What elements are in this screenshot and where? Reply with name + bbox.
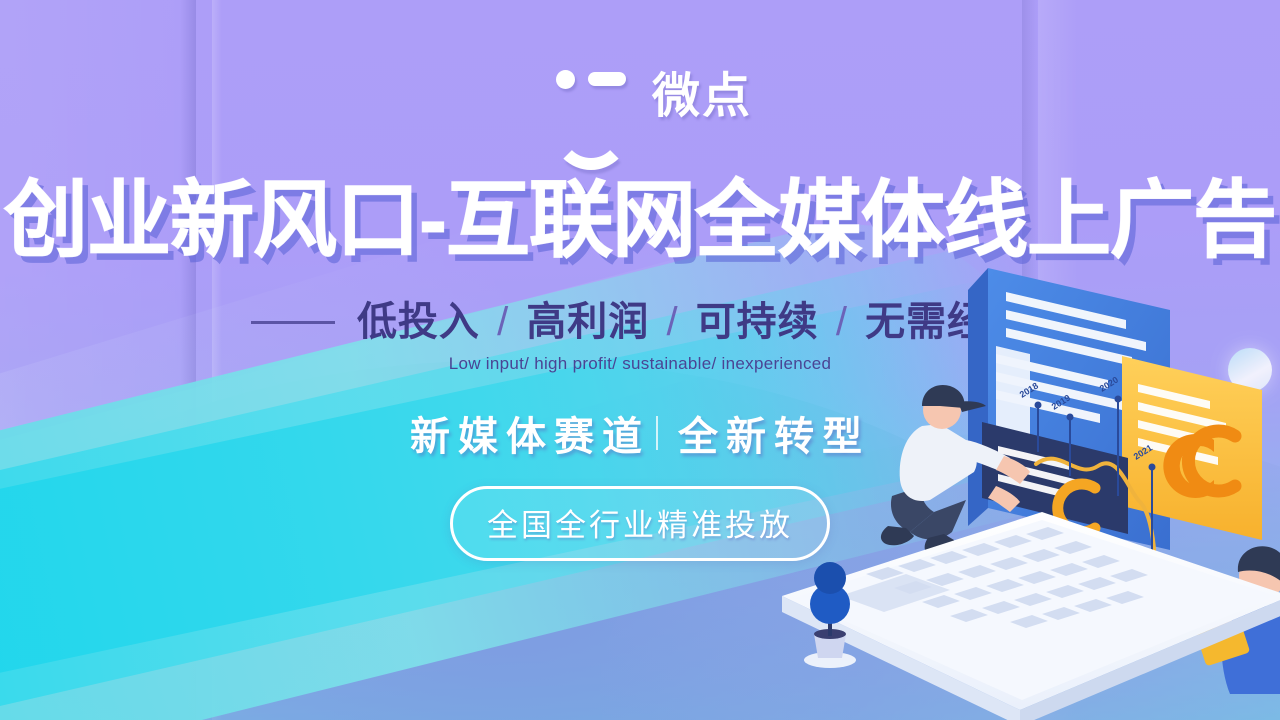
potted-plant [800, 548, 860, 668]
smiley-mouth-icon [552, 92, 630, 170]
plant-svg [800, 548, 860, 668]
smiley-eye-dot-icon [556, 70, 575, 89]
subtitle-separator: / [831, 300, 853, 344]
laptop-svg [690, 500, 1280, 720]
tagline-right: 全新转型 [678, 404, 870, 462]
tagline-divider [656, 416, 658, 450]
isometric-laptop [690, 500, 1280, 720]
subtitle-benefit-1: 低投入 [357, 300, 480, 344]
tagline-left: 新媒体赛道 [410, 404, 650, 462]
promo-banner: 微点 创业新风口-互联网全媒体线上广告 低投入 / 高利润 / 可持续 / 无需… [0, 0, 1280, 720]
subtitle-rule-left [251, 321, 335, 324]
brand-logo: 微点 [548, 58, 752, 136]
subtitle-separator: / [492, 300, 514, 344]
subtitle-separator: / [661, 300, 683, 344]
subtitle-benefit-2: 高利润 [526, 300, 649, 344]
smiley-eye-bar-icon [588, 72, 626, 86]
brand-name: 微点 [652, 73, 752, 121]
smiley-face-icon [548, 58, 634, 136]
subtitle-benefit-3: 可持续 [696, 300, 819, 344]
